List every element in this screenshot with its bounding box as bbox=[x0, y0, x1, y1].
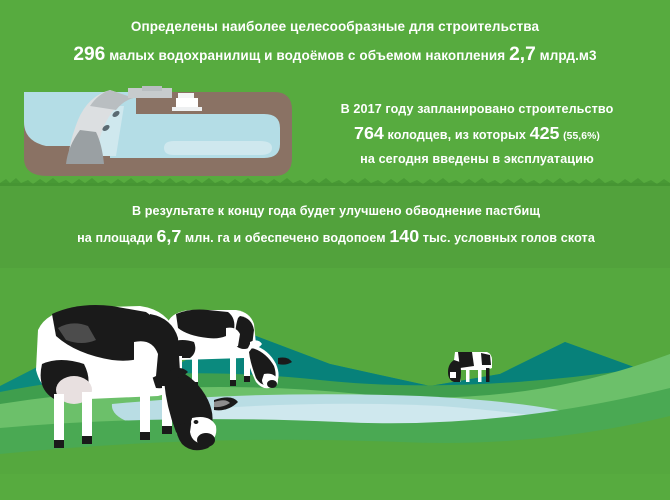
infographic-root: Определены наиболее целесообразные для с… bbox=[0, 0, 670, 500]
reservoir-dam-illustration bbox=[24, 86, 292, 180]
headline-line-2-middle: малых водохранилищ и водоёмов с объемом … bbox=[109, 48, 505, 63]
wells-number-764: 764 bbox=[354, 123, 384, 143]
result-text-block: В результате к концу года будет улучшено… bbox=[28, 202, 644, 250]
result-number-67: 6,7 bbox=[156, 226, 181, 246]
bottom-band bbox=[0, 474, 670, 500]
wells-percent-556: (55,6%) bbox=[563, 131, 600, 142]
dam-crest-top bbox=[142, 86, 162, 91]
wells-line-2: 764 колодцев, из которых 425 (55,6%) bbox=[288, 121, 666, 147]
wells-line-3: на сегодня введены в эксплуатацию bbox=[288, 150, 666, 168]
headline-number-296: 296 bbox=[73, 44, 105, 65]
headline-line-2: 296 малых водохранилищ и водоёмов с объе… bbox=[35, 41, 635, 69]
result-line-2-start: на площади bbox=[77, 231, 153, 245]
result-line-2-end: тыс. условных голов скота bbox=[423, 231, 595, 245]
wells-number-425: 425 bbox=[530, 123, 560, 143]
wells-line-1: В 2017 году запланировано строительство bbox=[288, 100, 666, 118]
channel-water-highlight bbox=[164, 141, 272, 155]
wells-line-2-middle: колодцев, из которых bbox=[387, 128, 526, 142]
pasture-lake-mountains-illustration bbox=[0, 268, 670, 500]
headline-text: Определены наиболее целесообразные для с… bbox=[35, 17, 635, 68]
result-line-2: на площади 6,7 млн. га и обеспечено водо… bbox=[28, 224, 644, 250]
result-number-140: 140 bbox=[389, 226, 419, 246]
headline-line-2-end: млрд.м3 bbox=[540, 48, 597, 63]
result-line-1: В результате к концу года будет улучшено… bbox=[28, 202, 644, 220]
wells-text-block: В 2017 году запланировано строительство … bbox=[288, 100, 666, 168]
headline-number-27: 2,7 bbox=[509, 44, 536, 65]
headline-line-1: Определены наиболее целесообразные для с… bbox=[131, 19, 539, 34]
result-line-2-middle: млн. га и обеспечено водопоем bbox=[185, 231, 386, 245]
